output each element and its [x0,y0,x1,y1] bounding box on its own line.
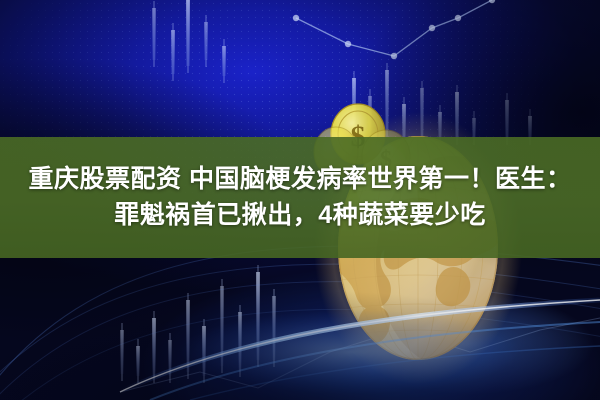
headline-banner: 重庆股票配资 中国脑梗发病率世界第一！医生： 罪魁祸首已揪出，4种蔬菜要少吃 [0,137,600,258]
headline-line-1: 重庆股票配资 中国脑梗发病率世界第一！医生： [29,165,572,195]
headline-line-2: 罪魁祸首已揪出，4种蔬菜要少吃 [114,201,485,231]
banner-image: $ $ 重庆股票配资 中国脑梗发病率世界第一！医生： 罪魁祸首已揪出，4种蔬菜要… [0,0,600,400]
